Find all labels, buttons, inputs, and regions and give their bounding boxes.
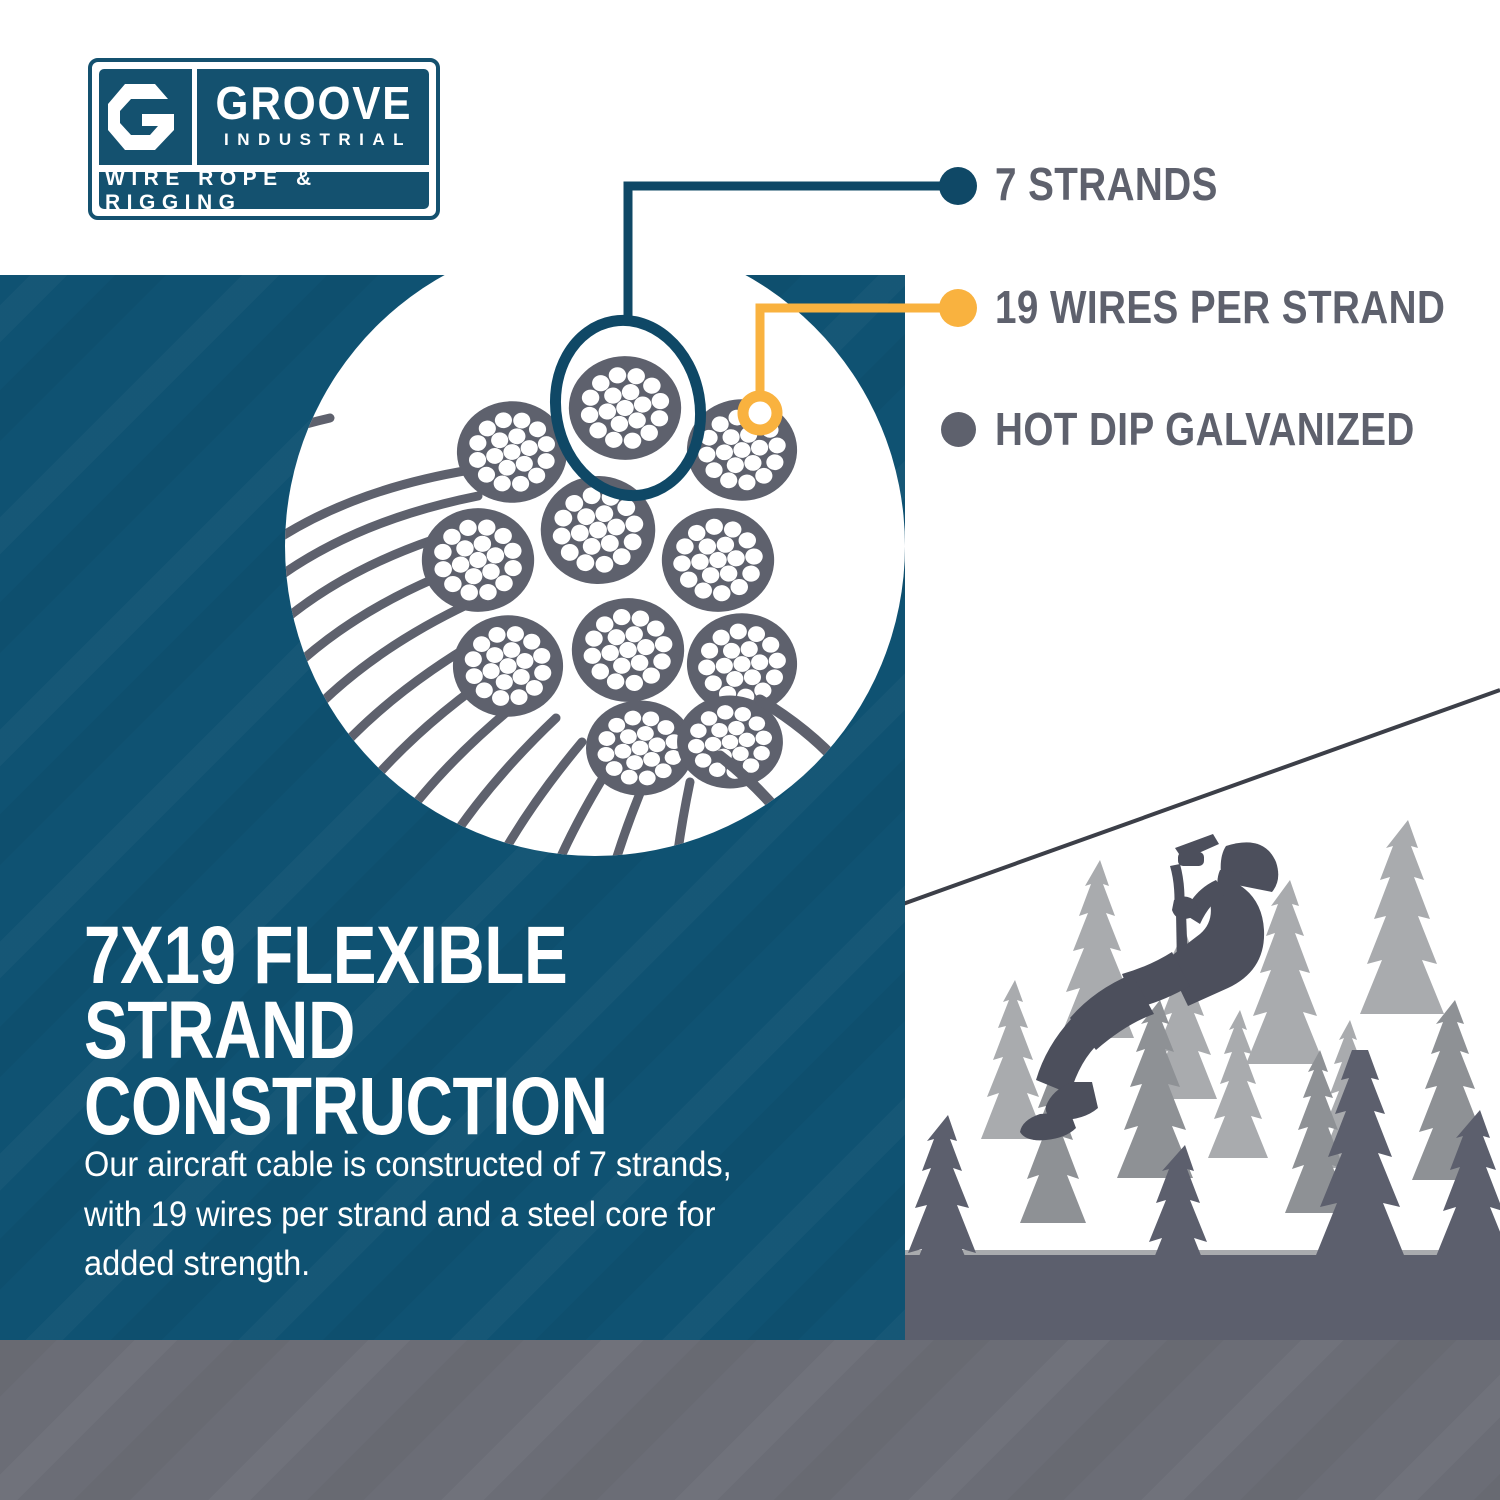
callout-dot-galvanized	[941, 412, 976, 447]
logo-tagline: WIRE ROPE & RIGGING	[99, 167, 429, 210]
body-paragraph: Our aircraft cable is constructed of 7 s…	[84, 1140, 754, 1289]
infographic-canvas: 7 STRANDS 19 WIRES PER STRAND HOT DIP GA…	[0, 0, 1500, 1500]
logo-frame: GROOVE INDUSTRIAL WIRE ROPE & RIGGING	[88, 58, 440, 220]
logo-brand-name: GROOVE	[216, 82, 413, 124]
illustration-circle-backdrop	[285, 236, 905, 856]
callout-label-wires: 19 WIRES PER STRAND	[995, 284, 1445, 330]
logo-brand-subtitle: INDUSTRIAL	[216, 130, 412, 150]
callout-dot-strands	[939, 167, 977, 205]
callout-label-strands: 7 STRANDS	[995, 161, 1218, 207]
page-title: 7X19 FLEXIBLE STRAND CONSTRUCTION	[84, 918, 716, 1144]
bottom-gray-band	[0, 1340, 1500, 1500]
logo-inner: GROOVE INDUSTRIAL WIRE ROPE & RIGGING	[99, 69, 429, 209]
logo-top-row: GROOVE INDUSTRIAL	[99, 69, 429, 165]
groove-g-monogram-icon	[99, 69, 192, 165]
logo-tagline-bar: WIRE ROPE & RIGGING	[99, 172, 429, 209]
brand-logo: GROOVE INDUSTRIAL WIRE ROPE & RIGGING	[88, 58, 440, 220]
logo-wordmark-box: GROOVE INDUSTRIAL	[197, 69, 429, 165]
callout-label-galvanized: HOT DIP GALVANIZED	[995, 406, 1415, 452]
callout-dot-wires	[939, 289, 977, 327]
